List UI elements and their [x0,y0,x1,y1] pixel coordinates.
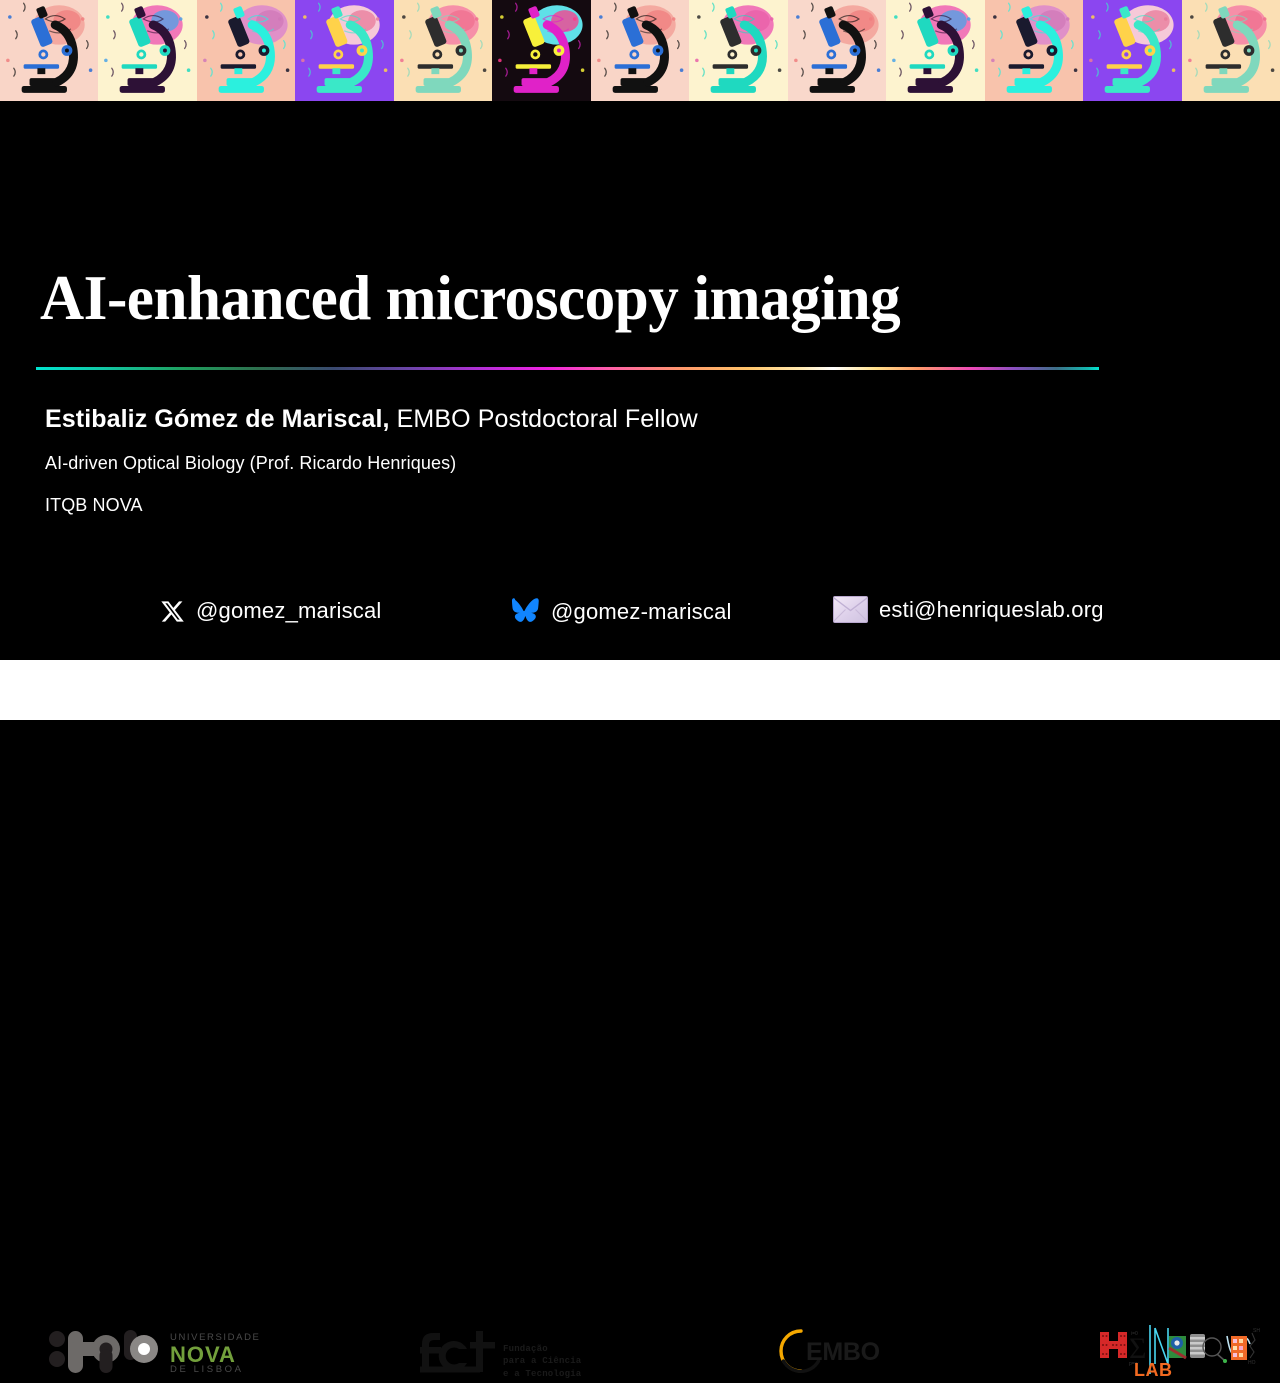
author-block: Estibaliz Gómez de Mariscal, EMBO Postdo… [45,404,1145,516]
fct-line-1: Fundação [503,1343,581,1355]
contact-row: @gomez_mariscal @gomez-mariscal [160,596,1160,638]
microscope-brain-tile-7 [591,0,689,101]
author-name: Estibaliz Gómez de Mariscal, [45,405,390,433]
fct-line-2: para a Ciência [503,1355,581,1367]
affiliation-line: AI-driven Optical Biology (Prof. Ricardo… [45,453,1145,474]
microscope-brain-tile-6 [492,0,590,101]
author-line: Estibaliz Gómez de Mariscal, EMBO Postdo… [45,404,1145,435]
svg-text:HO: HO [1248,1360,1256,1366]
microscope-brain-tile-9 [788,0,886,101]
fct-line-3: e a Tecnologia [503,1368,581,1380]
svg-text:i=0: i=0 [1131,1331,1138,1337]
itqb-nova-logo [48,1330,166,1374]
microscope-brain-tile-10 [886,0,984,101]
gradient-divider [36,367,1099,370]
henriques-lab-logo: Σ i=0 p=w [1098,1324,1263,1378]
author-role: EMBO Postdoctoral Fellow [397,405,698,433]
contact-bluesky-label: @gomez-mariscal [551,599,732,625]
svg-text:SH: SH [1253,1328,1260,1334]
embo-wordmark: EMBO [806,1338,880,1367]
title-block: AI-enhanced microscopy imaging [40,265,1240,331]
contact-bluesky[interactable]: @gomez-mariscal [508,598,732,626]
contact-x-label: @gomez_mariscal [196,598,382,624]
email-envelope-icon [833,596,868,623]
itqb-lisboa-label: DE LISBOA [170,1364,244,1375]
contact-email[interactable]: esti@henriqueslab.org [833,596,1104,623]
henriques-lab-sublabel: LAB [1134,1360,1173,1381]
contact-email-label: esti@henriqueslab.org [879,597,1104,623]
page-title: AI-enhanced microscopy imaging [40,265,1204,331]
microscope-brain-tile-12 [1083,0,1181,101]
microscope-brain-tile-3 [197,0,295,101]
footer-bar: UNIVERSIDADE NOVA DE LISBOA Fundação par… [0,660,1280,720]
x-twitter-icon [160,599,185,624]
contact-x-twitter[interactable]: @gomez_mariscal [160,598,382,624]
microscope-brain-tile-11 [985,0,1083,101]
fct-wordmark-text: Fundação para a Ciência e a Tecnologia [503,1343,581,1380]
decorative-image-strip [0,0,1280,101]
microscope-brain-tile-2 [98,0,196,101]
microscope-brain-tile-13 [1182,0,1280,101]
microscope-brain-tile-8 [689,0,787,101]
microscope-brain-tile-1 [0,0,98,101]
fct-logo-mark [418,1328,498,1379]
microscope-brain-tile-4 [295,0,393,101]
microscope-brain-tile-5 [394,0,492,101]
institute-line: ITQB NOVA [45,495,1145,516]
bluesky-butterfly-icon [508,598,540,626]
